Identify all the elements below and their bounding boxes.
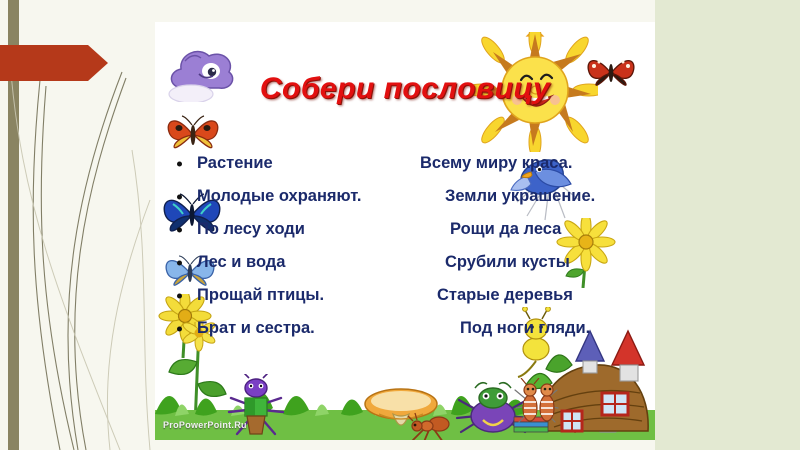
slide-background-right [655, 0, 800, 450]
proverb-left-part: Растение [197, 154, 273, 173]
spider-icon [455, 376, 531, 438]
proverb-right-part: Всему миру краса. [420, 154, 572, 173]
bullet-icon [177, 326, 182, 331]
proverb-left-part: По лесу ходи [197, 220, 305, 239]
proverb-right-part: Срубили кусты [445, 253, 570, 272]
proverb-right-part: Под ноги гляди. [460, 319, 590, 338]
proverb-left-part: Лес и вода [197, 253, 285, 272]
bullet-icon [177, 260, 182, 265]
proverb-left-part: Брат и сестра. [197, 319, 315, 338]
bullet-icon [177, 293, 182, 298]
proverb-row[interactable]: Брат и сестра. Под ноги гляди. [155, 312, 655, 345]
proverb-right-part: Рощи да леса [450, 220, 561, 239]
proverb-row[interactable]: По лесу ходи Рощи да леса [155, 213, 655, 246]
proverb-row[interactable]: Молодые охраняют. Земли украшение. [155, 180, 655, 213]
ant-icon [513, 378, 561, 430]
proverb-right-part: Старые деревья [437, 286, 573, 305]
ant-icon [405, 412, 453, 440]
proverb-row[interactable]: Лес и вода Срубили кусты [155, 246, 655, 279]
proverb-row[interactable]: Растение Всему миру краса. [155, 147, 655, 180]
slide: Собери пословицу Растение Всему миру кра… [0, 0, 800, 450]
mushroom-icon [363, 386, 439, 440]
watermark: ProPowerPoint.Ru [163, 420, 247, 430]
bullet-icon [177, 227, 182, 232]
proverb-list: Растение Всему миру краса. Молодые охран… [155, 147, 655, 345]
bullet-icon [177, 161, 182, 166]
proverb-row[interactable]: Прощай птицы. Старые деревья [155, 279, 655, 312]
red-arrow-banner-icon [0, 45, 108, 81]
content-panel: Собери пословицу Растение Всему миру кра… [155, 22, 655, 440]
grasshopper-icon [225, 374, 289, 440]
bullet-icon [177, 194, 182, 199]
proverb-left-part: Прощай птицы. [197, 286, 324, 305]
proverb-right-part: Земли украшение. [445, 187, 595, 206]
page-title: Собери пословицу [155, 72, 655, 106]
proverb-left-part: Молодые охраняют. [197, 187, 361, 206]
beetle-icon [555, 362, 621, 438]
